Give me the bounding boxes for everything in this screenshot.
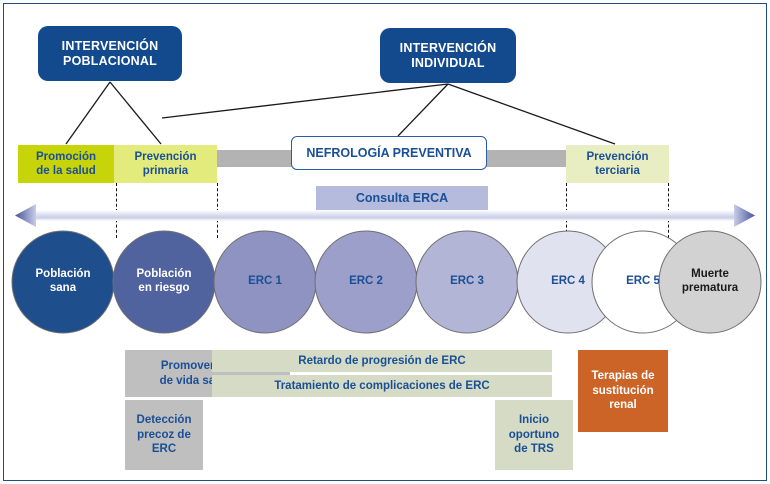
trs-line1: Inicio [519,414,549,426]
diagram-canvas: INTERVENCIÓN POBLACIONAL INTERVENCIÓN IN… [0,0,770,484]
trs-line3: de TRS [514,443,554,455]
therapy-line1: Terapias de [591,370,654,382]
complications-treatment-box[interactable]: Tratamiento de complicaciones de ERC [212,375,552,397]
detection-line1: Detección [137,414,192,426]
stage-circle-muerte-prematura[interactable] [659,231,761,333]
therapy-line2: sustitución [592,385,653,397]
stage-circle-poblacion-riesgo[interactable] [113,231,215,333]
renal-replacement-therapy-box[interactable]: Terapias de sustitución renal [578,350,668,432]
timely-trs-start-box[interactable]: Inicio oportuno de TRS [495,400,573,470]
stage-circle-erc-2[interactable] [315,231,417,333]
stage-circle-poblacion-sana[interactable] [12,231,114,333]
slow-progression-box[interactable]: Retardo de progresión de ERC [212,350,552,372]
trs-line2: oportuno [509,429,559,441]
early-detection-box[interactable]: Detección precoz de ERC [125,400,203,470]
therapy-line3: renal [609,399,637,411]
slow-progression-label: Retardo de progresión de ERC [298,354,465,369]
stage-circle-erc-1[interactable] [214,231,316,333]
detection-line3: ERC [152,443,176,455]
detection-line2: precoz de [137,429,191,441]
complications-treatment-label: Tratamiento de complicaciones de ERC [274,379,489,394]
stage-circle-erc-3[interactable] [416,231,518,333]
